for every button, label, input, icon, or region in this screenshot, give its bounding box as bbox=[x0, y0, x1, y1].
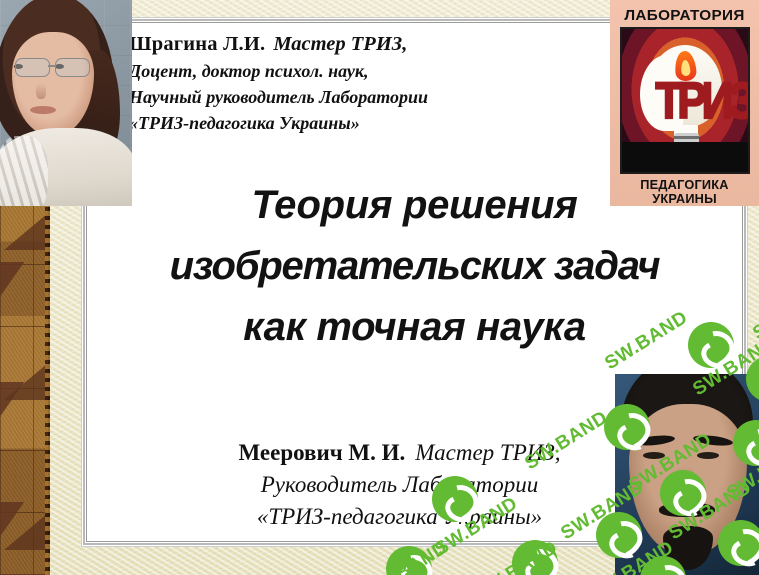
glasses-lens-left bbox=[15, 58, 50, 77]
author-top-rank: Мастер ТРИЗ, bbox=[265, 33, 407, 55]
glasses-icon bbox=[13, 58, 93, 76]
glasses-lens-right bbox=[55, 58, 90, 77]
presentation-slide: Шрагина Л.И.Мастер ТРИЗ, Доцент, доктор … bbox=[0, 0, 759, 575]
title-line-3: как точная наука bbox=[87, 297, 742, 358]
portrait-photo-man bbox=[615, 374, 759, 575]
portrait-photo-woman bbox=[0, 0, 132, 206]
author-bottom-name: Меерович М. И. bbox=[239, 440, 406, 465]
triz-monogram-text: ТРИЗ bbox=[656, 69, 722, 136]
logo-artwork: ТРИЗ bbox=[620, 27, 750, 174]
blouse-shape bbox=[0, 128, 132, 206]
author-top-line-2: Доцент, доктор психол. наук, bbox=[129, 60, 629, 83]
man-nose-shape bbox=[675, 466, 695, 498]
nose-shape bbox=[36, 83, 46, 99]
man-eye-right bbox=[697, 452, 719, 459]
author-top-line-4: «ТРИЗ-педагогика Украины» bbox=[129, 112, 629, 135]
author-top-block: Шрагина Л.И.Мастер ТРИЗ, Доцент, доктор … bbox=[129, 31, 629, 135]
mouth-shape bbox=[30, 106, 56, 114]
logo-caption-bottom: ПЕДАГОГИКА УКРАИНЫ bbox=[609, 178, 759, 206]
blouse-fold bbox=[0, 136, 48, 206]
author-top-line-3: Научный руководитель Лаборатории bbox=[129, 86, 629, 109]
author-top-name: Шрагина Л.И. bbox=[129, 33, 265, 55]
title-line-2: изобретательских задач bbox=[87, 236, 742, 297]
triz-monogram: ТРИЗ bbox=[656, 73, 722, 135]
author-top-line-1: Шрагина Л.И.Мастер ТРИЗ, bbox=[129, 31, 629, 57]
logo-artwork-base bbox=[622, 142, 748, 172]
man-eye-left bbox=[643, 452, 665, 459]
glasses-bridge bbox=[48, 65, 56, 67]
logo-caption-top: ЛАБОРАТОРИЯ bbox=[609, 7, 759, 24]
man-moustache-shape bbox=[659, 502, 715, 517]
laboratory-logo: ЛАБОРАТОРИЯ ТРИЗ ПЕДАГОГИКА УКРАИНЫ bbox=[610, 0, 759, 206]
author-bottom-rank: Мастер ТРИЗ, bbox=[405, 440, 560, 465]
